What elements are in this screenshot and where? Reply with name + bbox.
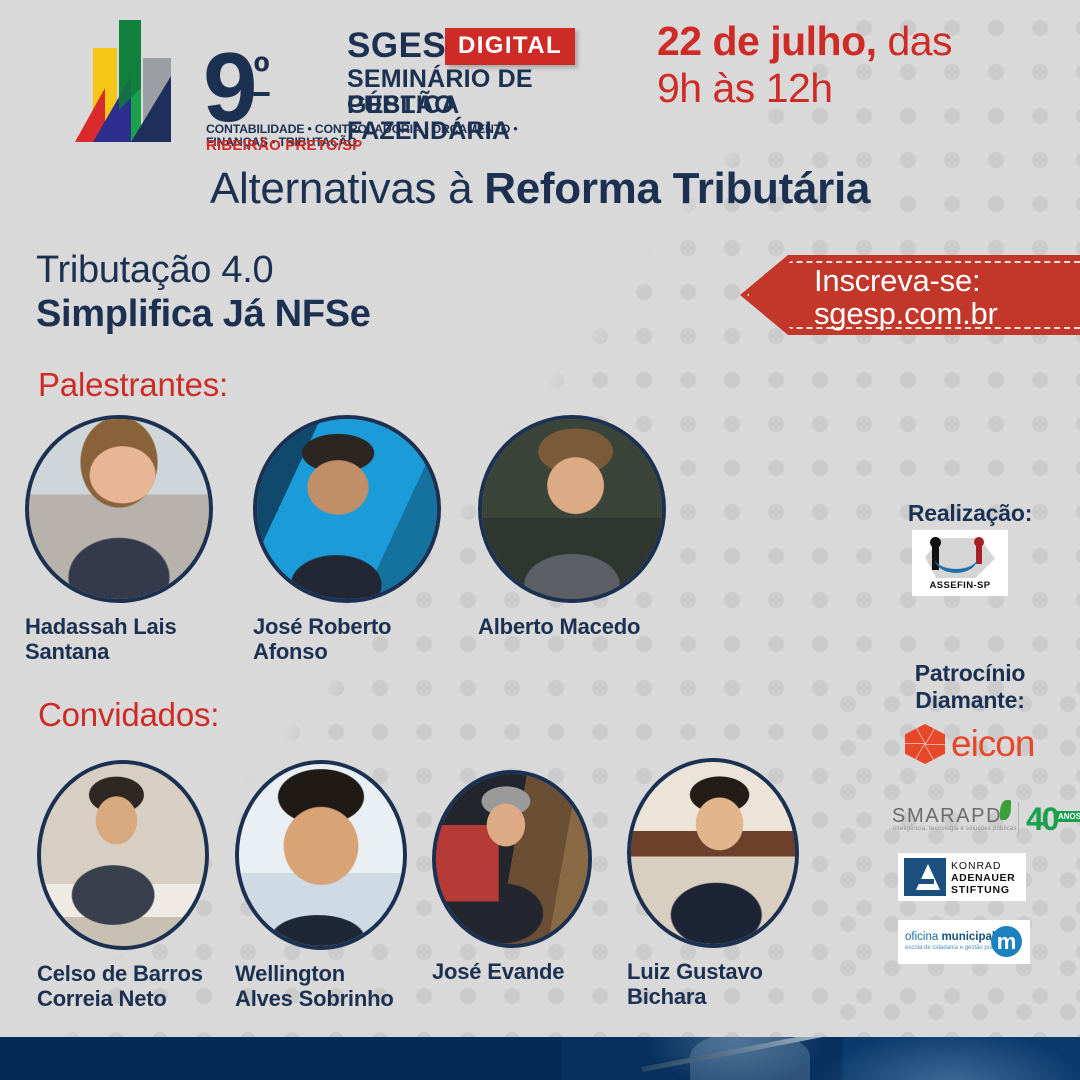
- guest-name-line2: Alves Sobrinho: [235, 986, 435, 1011]
- avatar-photo: [631, 762, 795, 944]
- avatar: [25, 415, 213, 603]
- registration-cta-line1: Inscreva-se:: [814, 264, 998, 297]
- digital-badge: DIGITAL: [445, 28, 575, 65]
- sgesp-logo-mark: [75, 18, 187, 142]
- oficina-monogram-icon: m: [991, 926, 1022, 957]
- registration-cta-banner[interactable]: Inscreva-se: sgesp.com.br: [740, 255, 1080, 335]
- patrocinio-label-line2: Diamante:: [865, 687, 1075, 714]
- smarapd-years-label: ANOS: [1055, 811, 1080, 822]
- oficina-tagline: escola de cidadania e gestão pública: [905, 945, 1003, 951]
- speaker-name-line1: Hadassah Lais: [25, 614, 230, 639]
- speakers-heading: Palestrantes:: [38, 367, 228, 403]
- guest-name-line1: José Evande: [432, 959, 622, 984]
- speaker-name-line2: Afonso: [253, 639, 458, 664]
- event-time: 9h às 12h: [657, 65, 952, 112]
- avatar-photo: [482, 419, 662, 599]
- speaker-name-line2: Santana: [25, 639, 230, 664]
- guests-heading: Convidados:: [38, 697, 219, 733]
- registration-cta-text: Inscreva-se: sgesp.com.br: [814, 264, 998, 330]
- guest-name-line1: Wellington: [235, 961, 435, 986]
- hexagon-icon: [905, 724, 945, 764]
- footer-photo-band: [0, 1037, 1080, 1080]
- person-head-icon: [974, 537, 984, 547]
- edition-ordinal: º: [254, 48, 270, 97]
- speaker-card: Alberto Macedo: [478, 415, 693, 639]
- speaker-name: Hadassah Lais Santana: [25, 614, 230, 664]
- guest-card: Celso de Barros Correia Neto: [37, 760, 237, 1011]
- subtitle-line1: Tributação 4.0: [36, 248, 371, 292]
- speaker-name: Alberto Macedo: [478, 614, 693, 639]
- guest-card: Luiz Gustavo Bichara: [627, 758, 817, 1009]
- avatar: [253, 415, 441, 603]
- guest-name-line2: Correia Neto: [37, 986, 237, 1011]
- smarapd-logo: SMARAPD inteligência, tecnologia e soluç…: [890, 797, 1060, 845]
- konrad-adenauer-stiftung-logo: KONRAD ADENAUER STIFTUNG: [898, 853, 1026, 901]
- brand-city: RIBEIRÃO PRETO/SP: [206, 138, 362, 154]
- event-logo: 9º SGESP DIGITAL SEMINÁRIO DE GESTÃO PÚB…: [75, 16, 575, 146]
- speaker-card: José Roberto Afonso: [253, 415, 458, 664]
- avatar-photo: [436, 774, 588, 944]
- guest-name: José Evande: [432, 959, 622, 984]
- konrad-a-mark-icon: [904, 858, 946, 896]
- avatar: [627, 758, 799, 948]
- eicon-logo: eicon: [905, 722, 1045, 766]
- oficina-name-bold: municipal,: [941, 931, 998, 943]
- registration-cta-line2: sgesp.com.br: [814, 297, 998, 330]
- guest-name: Luiz Gustavo Bichara: [627, 959, 817, 1009]
- speaker-name-line1: Alberto Macedo: [478, 614, 693, 639]
- smarapd-tagline: inteligência, tecnologia e soluções públ…: [893, 826, 1017, 832]
- oficina-municipal-logo: oficina municipal, escola de cidadania e…: [898, 920, 1030, 964]
- avatar-photo: [257, 419, 437, 599]
- guest-card: José Evande: [432, 770, 622, 984]
- person-head-icon: [930, 537, 941, 548]
- avatar-photo: [41, 764, 205, 946]
- realizacao-label: Realização:: [865, 500, 1075, 527]
- leaf-icon: [1000, 800, 1011, 820]
- avatar-photo: [239, 764, 403, 946]
- speaker-card: Hadassah Lais Santana: [25, 415, 230, 664]
- speaker-name: José Roberto Afonso: [253, 614, 458, 664]
- oficina-wordmark: oficina municipal,: [905, 931, 998, 943]
- avatar: [432, 770, 592, 948]
- divider: [1018, 802, 1019, 836]
- event-date-light: das: [877, 18, 953, 64]
- avatar: [478, 415, 666, 603]
- konrad-line1: KONRAD: [951, 860, 1001, 872]
- page-title: Alternativas à Reforma Tributária: [0, 163, 1080, 215]
- speaker-name-line1: José Roberto: [253, 614, 458, 639]
- konrad-line2: ADENAUER: [951, 872, 1015, 884]
- guest-name-line1: Luiz Gustavo: [627, 959, 817, 984]
- patrocinio-diamante-label: Patrocínio Diamante:: [865, 660, 1075, 714]
- eicon-wordmark: eicon: [951, 722, 1034, 766]
- avatar: [235, 760, 407, 950]
- assefin-caption: ASSEFIN-SP: [912, 580, 1008, 591]
- guest-name: Wellington Alves Sobrinho: [235, 961, 435, 1011]
- event-date: 22 de julho, das 9h às 12h: [657, 18, 952, 112]
- smarapd-wordmark: SMARAPD: [892, 805, 1002, 828]
- assefin-sp-logo: ASSEFIN-SP: [912, 530, 1008, 596]
- guest-name-line1: Celso de Barros: [37, 961, 237, 986]
- avatar-photo: [29, 419, 209, 599]
- avatar: [37, 760, 209, 950]
- page-title-bold: Reforma Tributária: [484, 164, 870, 213]
- edition-number: 9º: [203, 24, 270, 136]
- oficina-name-light: oficina: [905, 931, 941, 943]
- konrad-line3: STIFTUNG: [951, 884, 1010, 896]
- session-subtitle: Tributação 4.0 Simplifica Já NFSe: [36, 248, 371, 336]
- guest-name: Celso de Barros Correia Neto: [37, 961, 237, 1011]
- subtitle-line2: Simplifica Já NFSe: [36, 292, 371, 336]
- smarapd-years: 40: [1026, 799, 1058, 839]
- event-date-bold: 22 de julho,: [657, 18, 877, 64]
- page-title-light: Alternativas à: [210, 164, 484, 213]
- guest-card: Wellington Alves Sobrinho: [235, 760, 435, 1011]
- guest-name-line2: Bichara: [627, 984, 817, 1009]
- patrocinio-label-line1: Patrocínio: [865, 660, 1075, 687]
